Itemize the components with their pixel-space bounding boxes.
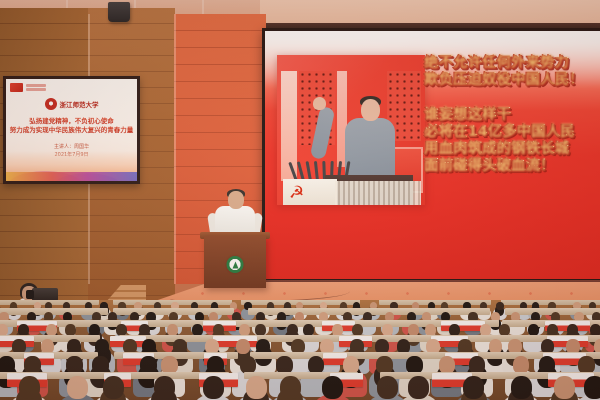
slide-ribbon	[6, 172, 137, 181]
cpc-logo-text	[26, 84, 46, 91]
slogan-block-1: 绝不允许任何外来势力 欺负压迫奴役中国人民！	[424, 55, 592, 89]
audience-member-head	[67, 376, 88, 399]
wall-mounted-loudspeaker-icon	[108, 2, 130, 22]
audience-member-head	[154, 376, 175, 399]
raised-fist	[313, 97, 326, 110]
red-booklet	[213, 336, 257, 347]
auditorium-scene: ☭ 绝不允许任何外来势力 欺负压迫奴役中国人民！ 谁妄想这样干 必将在14亿多中…	[0, 0, 600, 400]
main-led-screen: ☭ 绝不允许任何外来势力 欺负压迫奴役中国人民！ 谁妄想这样干 必将在14亿多中…	[265, 31, 600, 279]
slide-title-line: 弘扬建党精神，不负初心使命	[6, 117, 137, 126]
seated-audience	[0, 300, 600, 400]
slogan-line: 欺负压迫奴役中国人民！	[424, 72, 592, 89]
university-logo-row: 浙江师范大学	[45, 98, 99, 110]
audience-member-head	[103, 376, 124, 399]
slogan-line: 必将在14亿多中国人民	[424, 124, 592, 141]
slogan-line: 绝不允许任何外来势力	[424, 55, 592, 72]
cpc-centenary-logo	[10, 83, 46, 92]
audience-member-head	[496, 302, 503, 310]
audience-member-head	[19, 376, 40, 399]
audience-member-head	[554, 376, 575, 399]
audience-member-head	[322, 376, 343, 399]
speaker-podium	[204, 236, 266, 288]
slide-presenter: 主讲人：周国华	[6, 143, 137, 151]
audience-member-head	[246, 376, 267, 399]
audience-member-head	[584, 376, 600, 399]
slide-title-line: 努力成为实现中华民族伟大复兴的青春力量	[6, 126, 137, 135]
wall-seam	[174, 14, 176, 284]
figure-head	[361, 99, 380, 121]
slogan-line: 谁妄想这样干	[424, 107, 592, 124]
xi-jinping-speech-photo: ☭	[277, 55, 425, 205]
university-crest-icon	[227, 256, 244, 273]
audience-member-head	[463, 376, 484, 399]
audience-member-head	[203, 376, 224, 399]
audience-member-head	[236, 339, 250, 354]
slogan-line: 面前碰得头破血流！	[424, 158, 592, 175]
left-projection-screen: 浙江师范大学 弘扬建党精神，不负初心使命 努力成为实现中华民族伟大复兴的青春力量…	[6, 79, 137, 181]
cpc-logo-icon	[10, 83, 23, 92]
left-projection-screen-frame: 浙江师范大学 弘扬建党精神，不负初心使命 努力成为实现中华民族伟大复兴的青春力量…	[3, 76, 140, 184]
university-name: 浙江师范大学	[60, 99, 99, 109]
presenter-head	[228, 191, 244, 209]
slogan-line: 用血肉筑成的钢铁长城	[424, 141, 592, 158]
red-booklet	[441, 321, 486, 331]
slogan-block-2: 谁妄想这样干 必将在14亿多中国人民 用血肉筑成的钢铁长城 面前碰得头破血流！	[424, 107, 592, 175]
university-logo-icon	[45, 98, 57, 110]
audience-member-head	[377, 376, 398, 399]
slide-title: 弘扬建党精神，不负初心使命 努力成为实现中华民族伟大复兴的青春力量	[6, 117, 137, 135]
audience-member-head	[280, 376, 301, 399]
hammer-and-sickle-icon: ☭	[289, 184, 307, 202]
audience-member-head	[408, 376, 429, 399]
audience-member-head	[511, 376, 532, 399]
photo-rail	[335, 181, 421, 205]
led-slogan-text: 绝不允许任何外来势力 欺负压迫奴役中国人民！ 谁妄想这样干 必将在14亿多中国人…	[424, 55, 592, 193]
